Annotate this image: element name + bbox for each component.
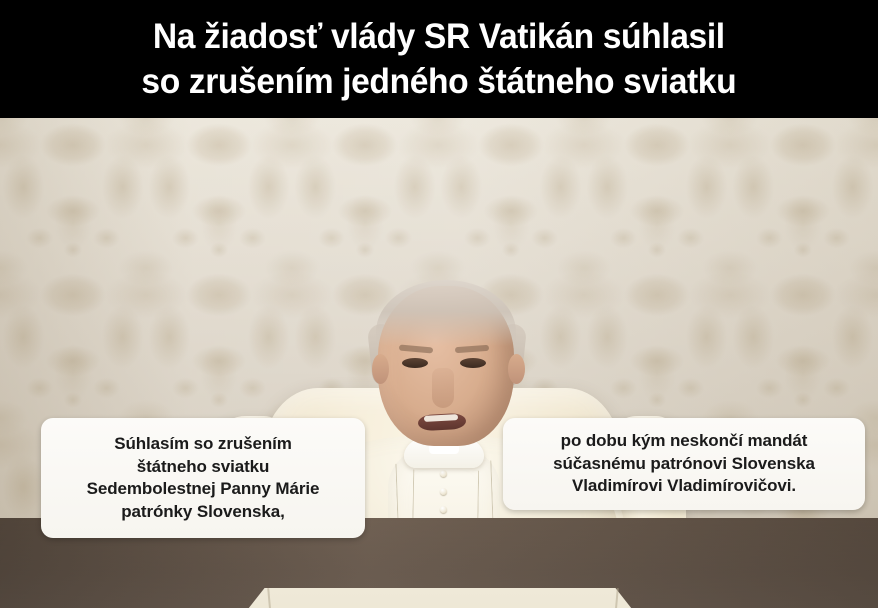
headline-bar: Na žiadosť vlády SR Vatikán súhlasil so … bbox=[0, 0, 878, 118]
caption-right-line-2: súčasnému patrónovi Slovenska bbox=[553, 453, 815, 476]
eye-right bbox=[460, 358, 486, 368]
caption-box-left: Súhlasím so zrušením štátneho sviatku Se… bbox=[41, 418, 365, 538]
caption-left-line-1: Súhlasím so zrušením bbox=[114, 433, 292, 456]
caption-box-right: po dobu kým neskončí mandát súčasnému pa… bbox=[503, 418, 865, 510]
nose bbox=[432, 368, 454, 408]
caption-left-line-2: štátneho sviatku bbox=[137, 456, 270, 479]
headline-line-1: Na žiadosť vlády SR Vatikán súhlasil bbox=[153, 14, 725, 59]
ear-right bbox=[508, 354, 525, 384]
ear-left bbox=[372, 354, 389, 384]
meme-image: Na žiadosť vlády SR Vatikán súhlasil so … bbox=[0, 0, 878, 608]
caption-right-line-3: Vladimírovi Vladimírovičovi. bbox=[572, 475, 796, 498]
caption-right-line-1: po dobu kým neskončí mandát bbox=[561, 430, 808, 453]
hair-top bbox=[376, 280, 516, 346]
headline-line-2: so zrušením jedného štátneho sviatku bbox=[142, 59, 737, 104]
caption-left-line-4: patrónky Slovenska, bbox=[121, 501, 284, 524]
eye-left bbox=[402, 358, 428, 368]
caption-left-line-3: Sedembolestnej Panny Márie bbox=[87, 478, 320, 501]
